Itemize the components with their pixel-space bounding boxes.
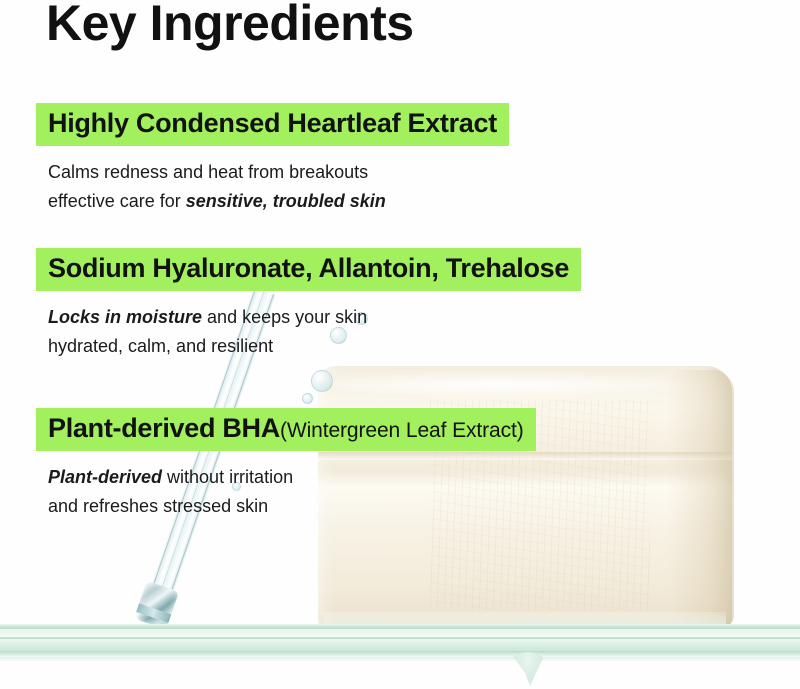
content-text-layer: Key Ingredients Highly Condensed Heartle… bbox=[0, 0, 800, 689]
ingredient-heading-3-subtitle: (Wintergreen Leaf Extract) bbox=[280, 419, 524, 442]
ingredient-body-1: Calms redness and heat from breakouts ef… bbox=[48, 158, 509, 216]
ingredient-heading-1: Highly Condensed Heartleaf Extract bbox=[48, 108, 497, 138]
ingredient-body-1-line-2-plain: effective care for bbox=[48, 191, 186, 211]
ingredient-heading-2: Sodium Hyaluronate, Allantoin, Trehalose bbox=[48, 253, 569, 283]
ingredient-body-2-line-1-tail: and keeps your skin bbox=[202, 307, 367, 327]
ingredient-body-3-line-2: and refreshes stressed skin bbox=[48, 496, 268, 516]
key-ingredients-infographic: Key Ingredients Highly Condensed Heartle… bbox=[0, 0, 800, 689]
ingredient-heading-highlight-3: Plant-derived BHA(Wintergreen Leaf Extra… bbox=[36, 408, 536, 451]
ingredient-body-2: Locks in moisture and keeps your skin hy… bbox=[48, 303, 581, 361]
ingredient-block-1: Highly Condensed Heartleaf Extract Calms… bbox=[36, 103, 509, 216]
ingredient-body-3: Plant-derived without irritation and ref… bbox=[48, 463, 536, 521]
ingredient-block-2: Sodium Hyaluronate, Allantoin, Trehalose… bbox=[36, 248, 581, 361]
ingredient-heading-3: Plant-derived BHA bbox=[48, 413, 280, 443]
ingredient-heading-highlight-1: Highly Condensed Heartleaf Extract bbox=[36, 103, 509, 146]
page-title: Key Ingredients bbox=[46, 0, 414, 51]
ingredient-body-3-line-1-tail: without irritation bbox=[162, 467, 293, 487]
ingredient-body-2-emphasis: Locks in moisture bbox=[48, 307, 202, 327]
ingredient-block-3: Plant-derived BHA(Wintergreen Leaf Extra… bbox=[36, 408, 536, 521]
ingredient-body-3-emphasis: Plant-derived bbox=[48, 467, 162, 487]
ingredient-body-2-line-2: hydrated, calm, and resilient bbox=[48, 336, 273, 356]
ingredient-body-1-line-1: Calms redness and heat from breakouts bbox=[48, 162, 368, 182]
ingredient-heading-highlight-2: Sodium Hyaluronate, Allantoin, Trehalose bbox=[36, 248, 581, 291]
ingredient-body-1-emphasis: sensitive, troubled skin bbox=[186, 191, 386, 211]
